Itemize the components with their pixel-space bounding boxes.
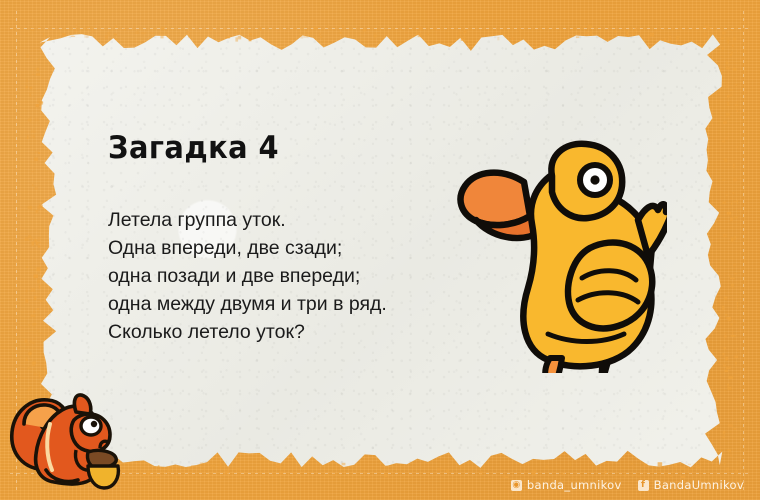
credit-instagram[interactable]: ◉ banda_umnikov xyxy=(511,478,622,492)
facebook-icon: f xyxy=(638,480,649,491)
riddle-line: Одна впереди, две сзади; xyxy=(108,234,488,262)
duck-illustration xyxy=(452,128,667,373)
duck-foot-left xyxy=(518,358,562,373)
duck-upper-beak xyxy=(461,173,530,226)
card-content: Загадка 4 Летела группа уток. Одна впере… xyxy=(0,0,760,500)
instagram-handle: banda_umnikov xyxy=(527,478,622,492)
instagram-icon: ◉ xyxy=(511,480,522,491)
riddle-line: одна между двумя и три в ряд. xyxy=(108,290,488,318)
credit-facebook[interactable]: f BandaUmnikov xyxy=(638,478,744,492)
riddle-line: Сколько летело уток? xyxy=(108,318,488,346)
facebook-handle: BandaUmnikov xyxy=(654,478,744,492)
riddle-card: Загадка 4 Летела группа уток. Одна впере… xyxy=(0,0,760,500)
squirrel-mascot-illustration xyxy=(4,384,122,496)
duck-wing xyxy=(568,242,652,328)
squirrel-ear xyxy=(74,395,90,414)
acorn-nut xyxy=(88,466,118,488)
page-title: Загадка 4 xyxy=(108,130,279,166)
riddle-line: Летела группа уток. xyxy=(108,206,488,234)
duck-eye xyxy=(580,165,610,195)
riddle-text: Летела группа уток. Одна впереди, две сз… xyxy=(108,206,488,346)
riddle-line: одна позади и две впереди; xyxy=(108,262,488,290)
social-credits: ◉ banda_umnikov f BandaUmnikov xyxy=(511,474,744,496)
squirrel-eye xyxy=(81,417,101,435)
